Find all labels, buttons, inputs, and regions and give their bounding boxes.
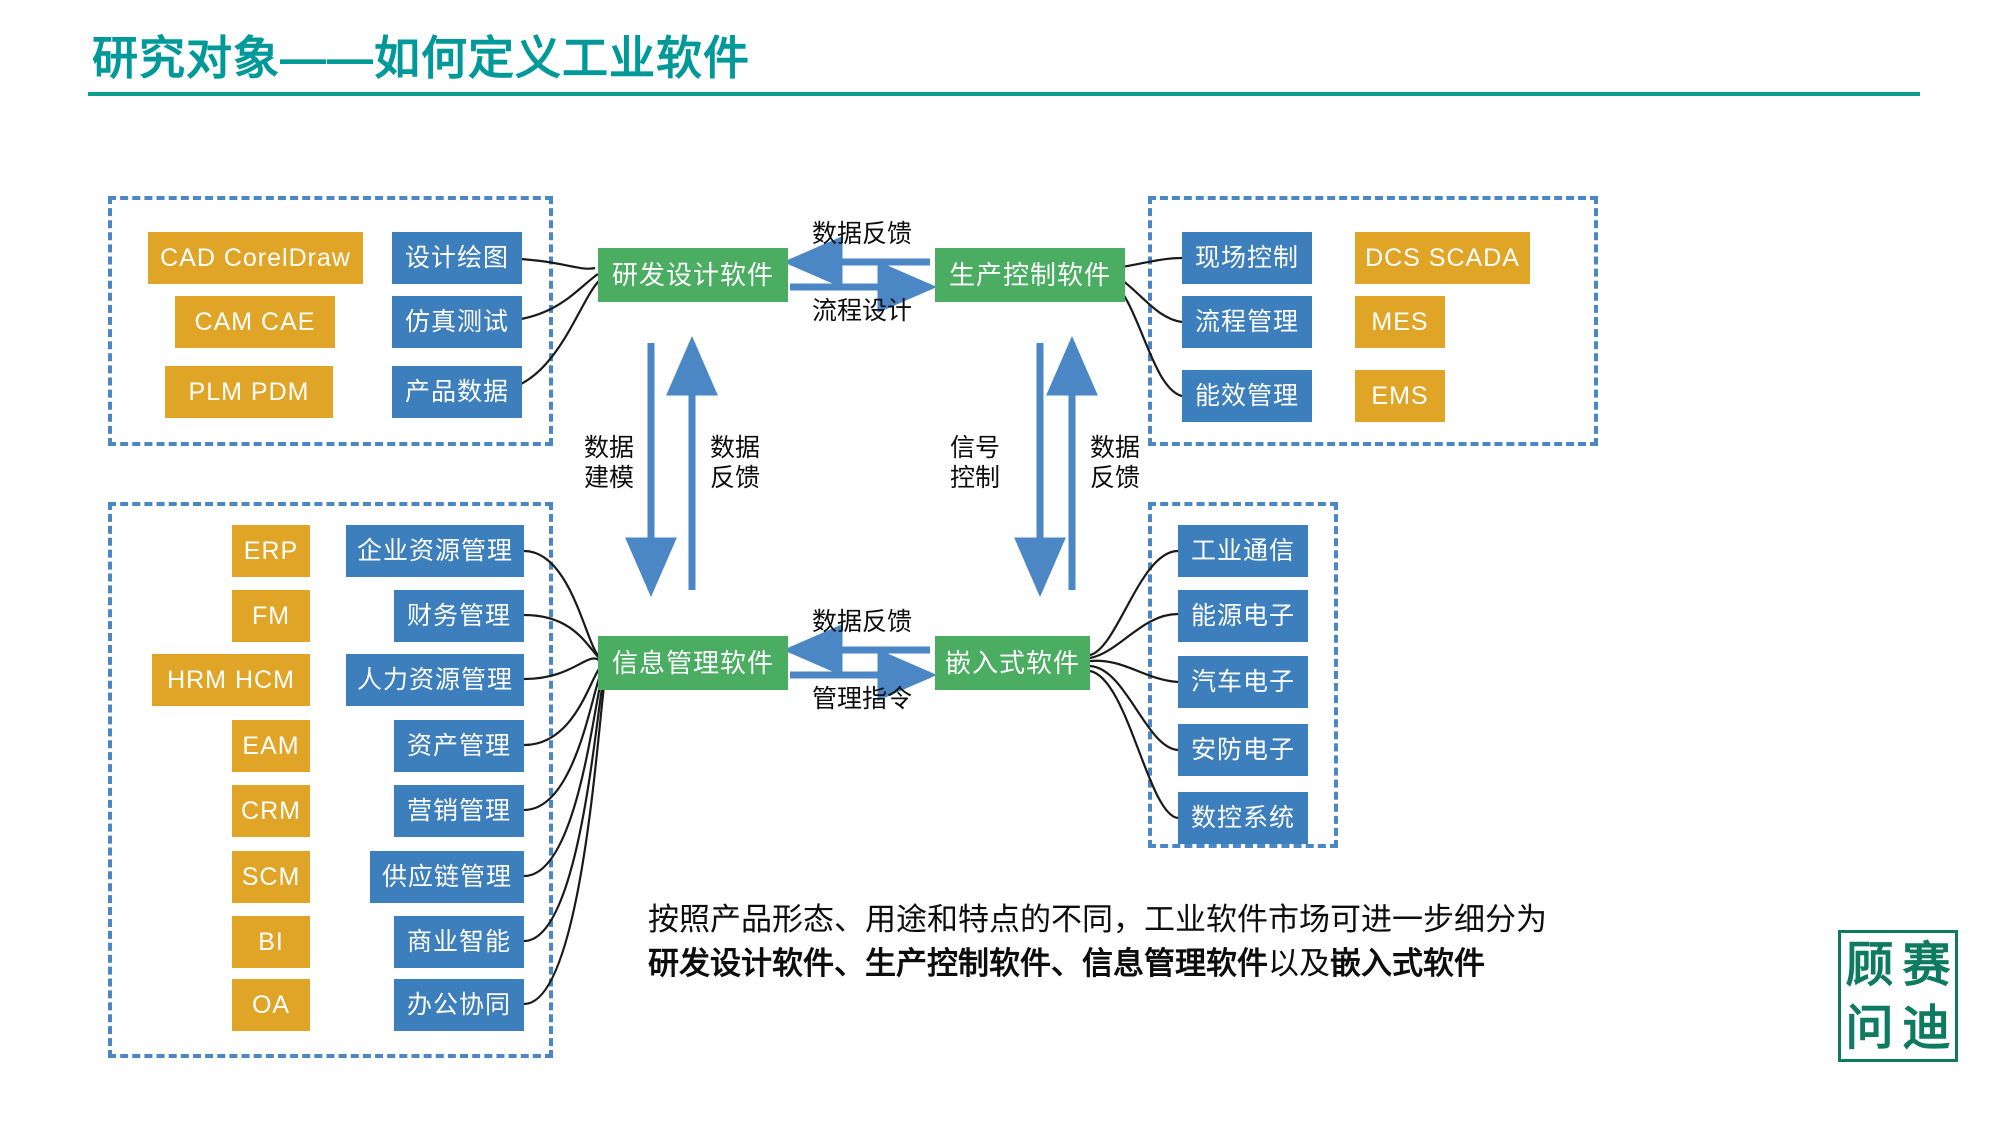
tag-cad-coreldraw[interactable]: CAD CorelDraw [148, 232, 363, 284]
tag-label: CAD CorelDraw [160, 246, 351, 271]
tag-oa[interactable]: OA [232, 979, 310, 1031]
function-automotive-electronics[interactable]: 汽车电子 [1178, 656, 1308, 708]
function-cnc-system[interactable]: 数控系统 [1178, 792, 1308, 844]
arrow-label-rd-info-down: 数据 建模 [574, 434, 644, 493]
function-label: 能效管理 [1195, 384, 1299, 409]
caption-mid: 以及 [1268, 946, 1330, 981]
group-info-mgmt [108, 502, 553, 1058]
function-label: 营销管理 [407, 799, 511, 824]
tag-label: CAM CAE [195, 310, 316, 335]
seal-char-2: 赛 [1898, 933, 1955, 996]
hub-information-management-software[interactable]: 信息管理软件 [598, 636, 788, 690]
seal-char-3: 问 [1841, 996, 1898, 1059]
tag-label: SCM [242, 865, 301, 890]
arrow-label-rd-prod-top: 数据反馈 [792, 220, 932, 250]
tag-mes[interactable]: MES [1355, 296, 1445, 348]
function-product-data[interactable]: 产品数据 [392, 366, 522, 418]
hub-label: 信息管理软件 [612, 650, 774, 676]
caption-bold-1: 研发设计软件、生产控制软件、信息管理软件 [648, 946, 1268, 981]
tag-label: OA [252, 993, 290, 1018]
tag-hrm-hcm[interactable]: HRM HCM [152, 654, 310, 706]
function-label: 财务管理 [407, 604, 511, 629]
hub-rd-design-software[interactable]: 研发设计软件 [598, 248, 788, 302]
function-label: 仿真测试 [405, 310, 509, 335]
summary-caption: 按照产品形态、用途和特点的不同，工业软件市场可进一步细分为 研发设计软件、生产控… [648, 898, 1778, 986]
tag-plm-pdm[interactable]: PLM PDM [165, 366, 333, 418]
function-label: 人力资源管理 [357, 668, 513, 693]
ccid-seal-logo: 顾 赛 问 迪 [1838, 930, 1958, 1062]
function-enterprise-resource-management[interactable]: 企业资源管理 [346, 525, 524, 577]
tag-label: EAM [242, 734, 299, 759]
tag-label: HRM HCM [167, 668, 295, 693]
function-energy-electronics[interactable]: 能源电子 [1178, 590, 1308, 642]
function-label: 商业智能 [407, 930, 511, 955]
tag-label: CRM [241, 799, 301, 824]
function-label: 现场控制 [1195, 246, 1299, 271]
seal-char-4: 迪 [1898, 996, 1955, 1059]
function-label: 汽车电子 [1191, 670, 1295, 695]
function-label: 供应链管理 [382, 865, 512, 890]
function-financial-management[interactable]: 财务管理 [394, 590, 524, 642]
tag-crm[interactable]: CRM [232, 785, 310, 837]
tag-label: MES [1371, 310, 1428, 335]
function-process-management[interactable]: 流程管理 [1182, 296, 1312, 348]
arrow-label-info-emb-top: 数据反馈 [792, 608, 932, 638]
function-business-intelligence[interactable]: 商业智能 [394, 916, 524, 968]
function-marketing-management[interactable]: 营销管理 [394, 785, 524, 837]
tag-label: BI [258, 930, 284, 955]
function-simulation-test[interactable]: 仿真测试 [392, 296, 522, 348]
function-label: 数控系统 [1191, 806, 1295, 831]
function-label: 企业资源管理 [357, 539, 513, 564]
arrow-label-rd-prod-bottom: 流程设计 [792, 297, 932, 327]
function-design-drawing[interactable]: 设计绘图 [392, 232, 522, 284]
hub-production-control-software[interactable]: 生产控制软件 [935, 248, 1125, 302]
caption-line-1: 按照产品形态、用途和特点的不同，工业软件市场可进一步细分为 [648, 902, 1547, 937]
function-asset-management[interactable]: 资产管理 [394, 720, 524, 772]
title-underline [88, 92, 1920, 96]
tag-erp[interactable]: ERP [232, 525, 310, 577]
tag-label: ERP [244, 539, 298, 564]
hub-label: 嵌入式软件 [945, 650, 1080, 676]
function-field-control[interactable]: 现场控制 [1182, 232, 1312, 284]
tag-dcs-scada[interactable]: DCS SCADA [1355, 232, 1530, 284]
tag-cam-cae[interactable]: CAM CAE [175, 296, 335, 348]
function-label: 产品数据 [405, 380, 509, 405]
arrow-label-rd-info-up: 数据 反馈 [700, 434, 770, 493]
function-human-resource-management[interactable]: 人力资源管理 [346, 654, 524, 706]
tag-fm[interactable]: FM [232, 590, 310, 642]
tag-label: PLM PDM [189, 380, 310, 405]
function-label: 资产管理 [407, 734, 511, 759]
function-security-electronics[interactable]: 安防电子 [1178, 724, 1308, 776]
function-label: 能源电子 [1191, 604, 1295, 629]
tag-label: FM [252, 604, 290, 629]
function-label: 办公协同 [407, 993, 511, 1018]
tag-scm[interactable]: SCM [232, 851, 310, 903]
function-label: 设计绘图 [405, 246, 509, 271]
seal-char-1: 顾 [1841, 933, 1898, 996]
function-supply-chain-management[interactable]: 供应链管理 [370, 851, 524, 903]
caption-bold-2: 嵌入式软件 [1330, 946, 1485, 981]
function-office-collaboration[interactable]: 办公协同 [394, 979, 524, 1031]
tag-bi[interactable]: BI [232, 916, 310, 968]
function-energy-efficiency-management[interactable]: 能效管理 [1182, 370, 1312, 422]
arrow-label-info-emb-bottom: 管理指令 [792, 685, 932, 715]
function-industrial-communication[interactable]: 工业通信 [1178, 525, 1308, 577]
hub-label: 研发设计软件 [612, 262, 774, 288]
hub-embedded-software[interactable]: 嵌入式软件 [935, 636, 1090, 690]
function-label: 流程管理 [1195, 310, 1299, 335]
arrow-label-prod-emb-up: 数据 反馈 [1080, 434, 1150, 493]
tag-label: EMS [1371, 384, 1428, 409]
tag-eam[interactable]: EAM [232, 720, 310, 772]
function-label: 工业通信 [1191, 539, 1295, 564]
function-label: 安防电子 [1191, 738, 1295, 763]
page-title: 研究对象——如何定义工业软件 [92, 22, 750, 88]
slide-root: 研究对象——如何定义工业软件 [0, 0, 2000, 1125]
tag-ems[interactable]: EMS [1355, 370, 1445, 422]
arrow-label-prod-emb-down: 信号 控制 [940, 434, 1010, 493]
hub-label: 生产控制软件 [949, 262, 1111, 288]
tag-label: DCS SCADA [1365, 246, 1520, 271]
